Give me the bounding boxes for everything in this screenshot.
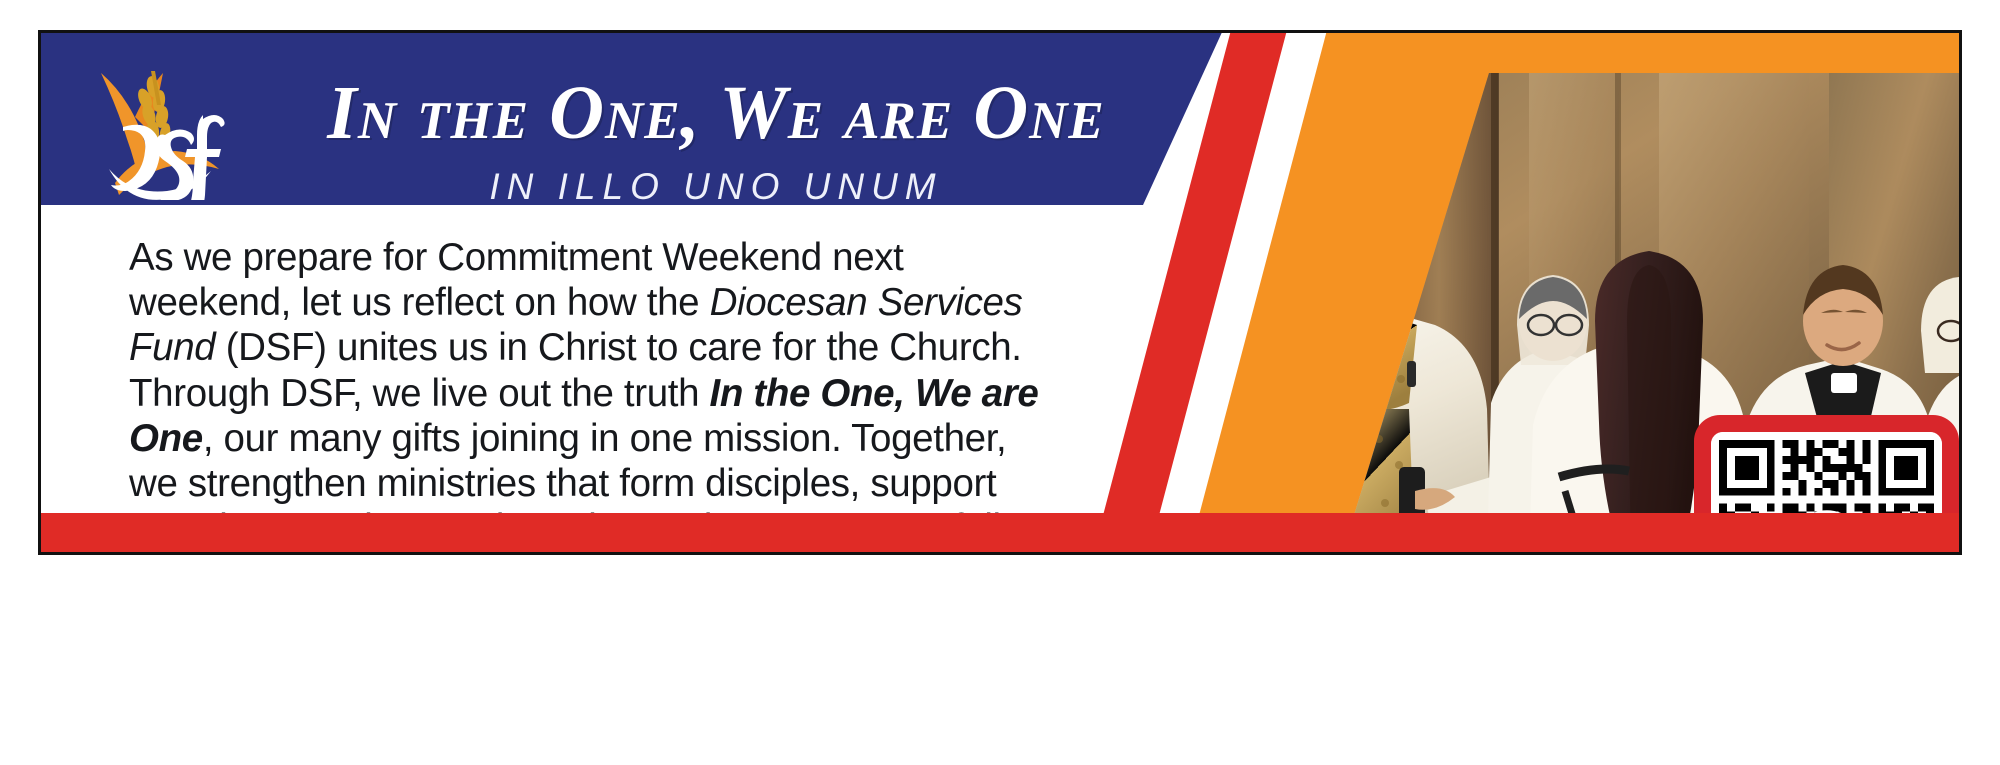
dsf-logo-graphic <box>91 65 241 200</box>
dsf-announcement-card: In the One, We are One IN ILLO UNO UNUM … <box>38 30 1962 555</box>
page-subtitle: IN ILLO UNO UNUM <box>266 166 1166 208</box>
announcement-body-text: As we prepare for Commitment Weekend nex… <box>129 235 1047 555</box>
dsf-wheat-logo <box>91 65 241 200</box>
announcement-banner: In the One, We are One IN ILLO UNO UNUM … <box>0 0 2000 765</box>
page-title: In the One, We are One <box>266 75 1166 151</box>
bottom-red-bar <box>38 513 1962 555</box>
